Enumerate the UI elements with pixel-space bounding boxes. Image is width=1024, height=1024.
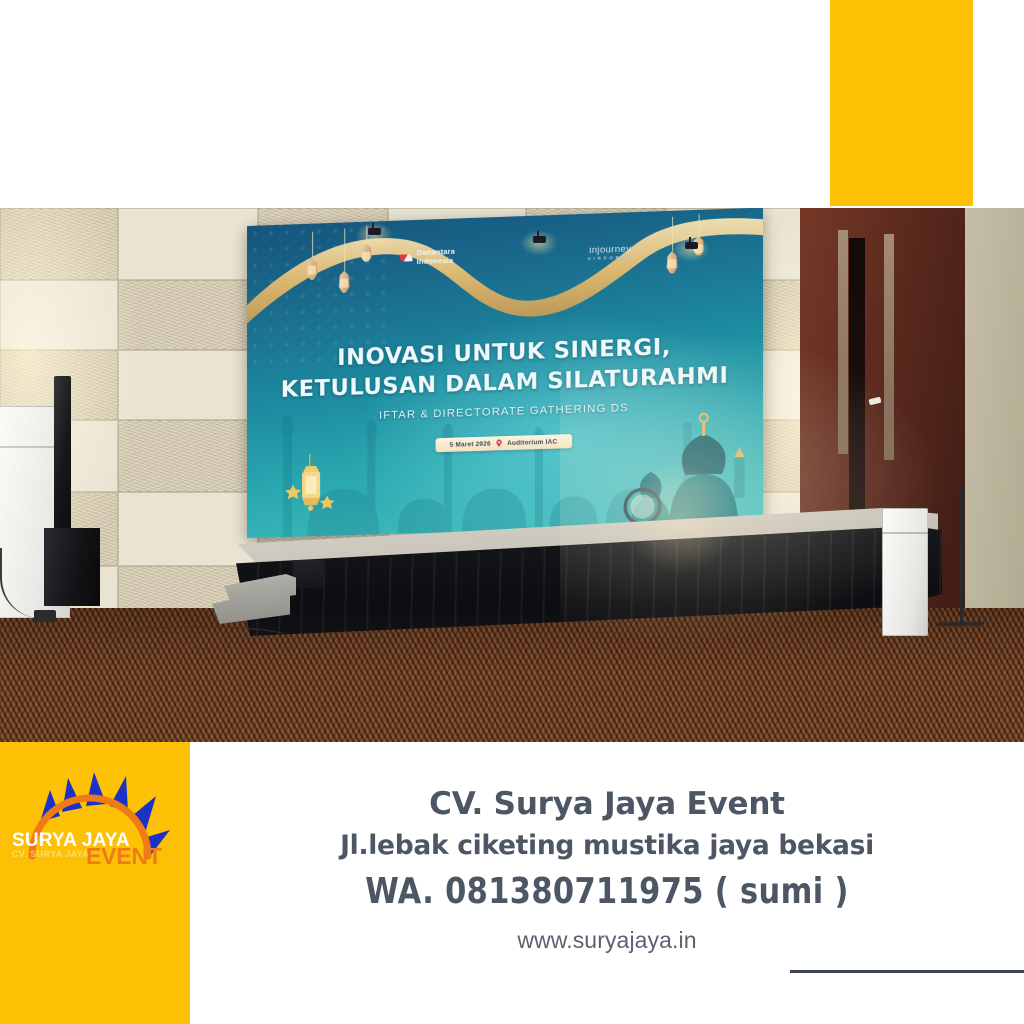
gold-ribbon-swoosh (247, 211, 763, 350)
air-conditioner-unit (882, 508, 928, 636)
company-address: Jl.lebak ciketing mustika jaya bekasi (190, 830, 1024, 861)
banner-date: 5 Maret 2026 (450, 440, 491, 448)
danantara-mark-icon (400, 253, 413, 262)
line-array-speaker (54, 376, 71, 534)
yellow-accent-block (830, 0, 973, 206)
whatsapp-number[interactable]: WA. 081380711975 ( sumi ) (215, 871, 999, 912)
hanging-lantern (337, 228, 351, 293)
spotlight-glow (672, 236, 710, 262)
sponsor-logo-danantara: Danantara Indonesia (400, 247, 455, 268)
banner-venue: Auditorium IAC (507, 438, 557, 447)
spotlight-glow (520, 230, 558, 256)
hanging-lantern (305, 231, 319, 280)
footer-contact-bar: SURYA JAYA CV. SURYA JAYA EVENT CV. Sury… (0, 742, 1024, 1024)
wood-inlay-strip (838, 230, 848, 454)
sponsor-logo-injourney: injourney AIRPORTS (588, 242, 633, 261)
footer-text-block: CV. Surya Jaya Event Jl.lebak ciketing m… (190, 742, 1024, 1024)
company-name: CV. Surya Jaya Event (190, 786, 1024, 822)
website-url[interactable]: www.suryajaya.in (190, 927, 1024, 954)
location-pin-icon (496, 439, 502, 447)
wood-inlay-strip (884, 234, 894, 460)
logo-panel: SURYA JAYA CV. SURYA JAYA EVENT (0, 742, 190, 1024)
top-white-band (0, 0, 1024, 208)
stage-spotlight (685, 242, 698, 249)
logo-event-word: EVENT (86, 843, 162, 870)
stage-spotlight (533, 236, 546, 243)
wall-far-panel (955, 208, 1024, 628)
event-photo: Danantara Indonesia injourney AIRPORTS I… (0, 208, 1024, 742)
ac-unit-seam (882, 532, 928, 534)
crescent-moon-lantern-illustration (259, 447, 355, 538)
footer-divider-rule (790, 970, 1024, 973)
microphone-stand (960, 486, 963, 626)
danantara-name-line2: Indonesia (417, 256, 455, 267)
microphone-stand-base (937, 622, 985, 626)
cable-junction-box (34, 610, 56, 622)
floor-cable-run (100, 626, 290, 648)
injourney-name: injourney (588, 242, 633, 255)
stage-corner-block (293, 560, 323, 588)
spotlight-glow (355, 222, 393, 248)
stage-spotlight (368, 228, 381, 235)
